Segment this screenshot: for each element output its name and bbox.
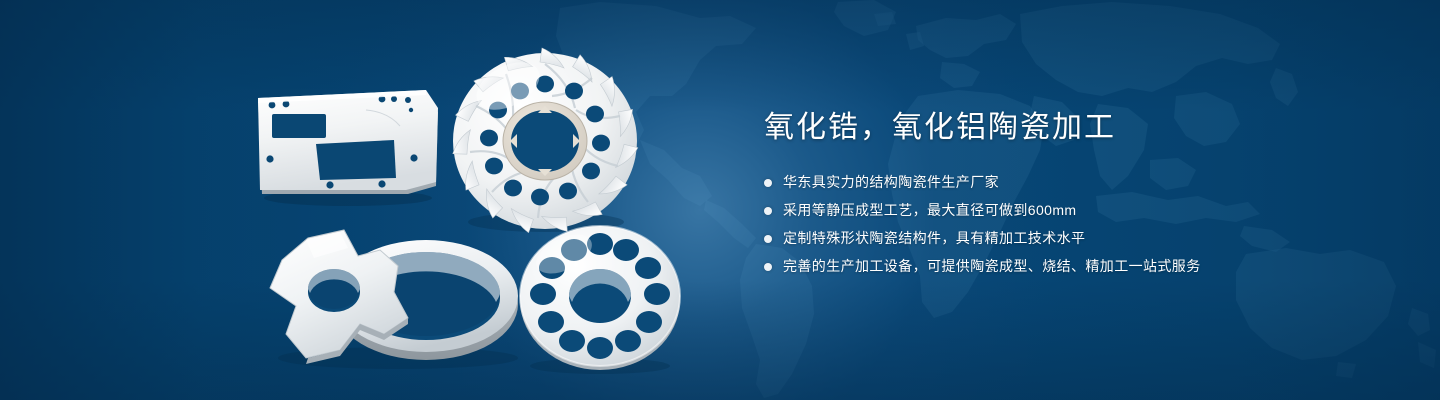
filled-circle-bullet-icon <box>764 179 772 187</box>
ceramic-flat-plate-image <box>248 74 444 208</box>
ceramic-impeller-disc-image <box>446 42 644 240</box>
ceramic-products-banner: 氧化锆，氧化铝陶瓷加工 华东具实力的结构陶瓷件生产厂家 采用等静压成型工艺，最大… <box>0 0 1440 400</box>
filled-circle-bullet-icon <box>764 235 772 243</box>
feature-text: 定制特殊形状陶瓷结构件，具有精加工技术水平 <box>783 226 1085 251</box>
feature-list-item: 完善的生产加工设备，可提供陶瓷成型、烧结、精加工一站式服务 <box>764 254 1384 279</box>
product-photo-group <box>0 0 740 400</box>
ceramic-perforated-ring-image <box>512 224 688 376</box>
banner-feature-list: 华东具实力的结构陶瓷件生产厂家 采用等静压成型工艺，最大直径可做到600mm 定… <box>764 170 1384 279</box>
filled-circle-bullet-icon <box>764 207 772 215</box>
feature-list-item: 定制特殊形状陶瓷结构件，具有精加工技术水平 <box>764 226 1384 251</box>
banner-copy-block: 氧化锆，氧化铝陶瓷加工 华东具实力的结构陶瓷件生产厂家 采用等静压成型工艺，最大… <box>764 108 1384 282</box>
feature-list-item: 华东具实力的结构陶瓷件生产厂家 <box>764 170 1384 195</box>
banner-headline: 氧化锆，氧化铝陶瓷加工 <box>764 108 1384 148</box>
feature-text: 完善的生产加工设备，可提供陶瓷成型、烧结、精加工一站式服务 <box>783 254 1201 279</box>
feature-list-item: 采用等静压成型工艺，最大直径可做到600mm <box>764 198 1384 223</box>
feature-text: 华东具实力的结构陶瓷件生产厂家 <box>783 170 999 195</box>
feature-text: 采用等静压成型工艺，最大直径可做到600mm <box>783 198 1076 223</box>
filled-circle-bullet-icon <box>764 263 772 271</box>
ceramic-cross-part-and-ring-image <box>248 226 526 370</box>
